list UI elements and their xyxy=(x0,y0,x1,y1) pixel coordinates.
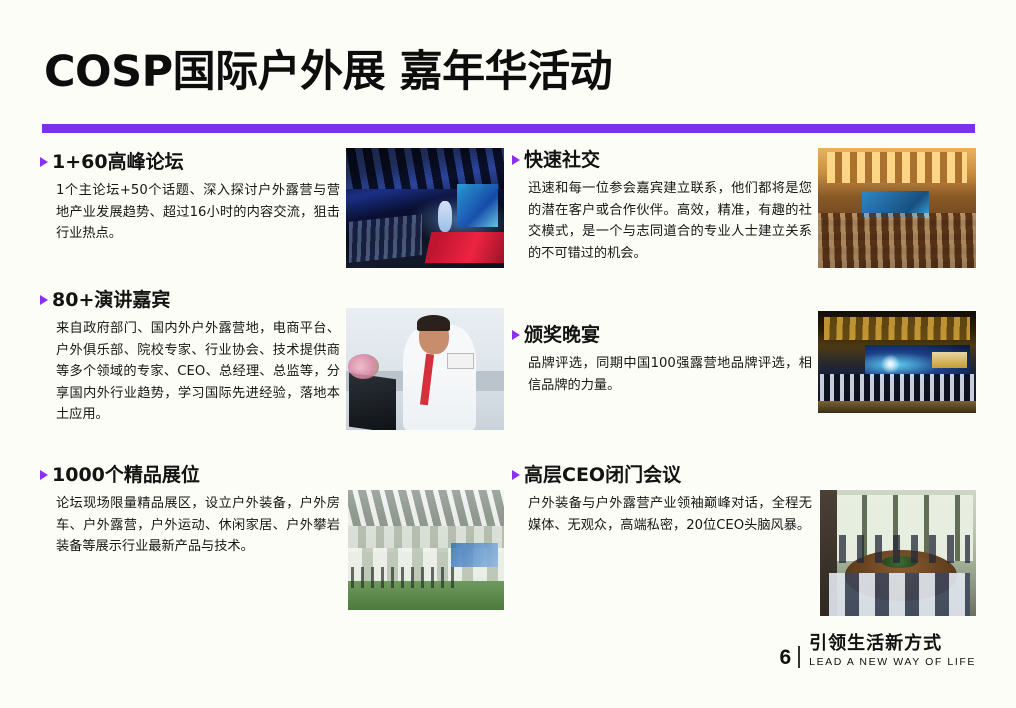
feature-heading-label: 快速社交 xyxy=(524,148,600,172)
feature-heading: 快速社交 xyxy=(512,148,812,172)
speaker-photo xyxy=(346,308,504,430)
triangle-bullet-icon xyxy=(40,157,48,167)
feature-body-text: 品牌评选，同期中国100强露营地品牌评选，相信品牌的力量。 xyxy=(512,353,812,396)
feature-heading-label: 80+演讲嘉宾 xyxy=(52,288,170,312)
footer-slogan-cn: 引领生活新方式 xyxy=(809,633,942,654)
feature-heading: 80+演讲嘉宾 xyxy=(40,288,340,312)
footer-slogan: 引领生活新方式 LEAD A NEW WAY OF LIFE xyxy=(809,633,976,668)
feature-heading: 1+60高峰论坛 xyxy=(40,150,340,174)
feature-body-text: 户外装备与户外露营产业领袖巅峰对话，全程无媒体、无观众，高端私密，20位CEO头… xyxy=(512,493,812,536)
feature-heading: 1000个精品展位 xyxy=(40,463,340,487)
feature-body-text: 迅速和每一位参会嘉宾建立联系，他们都将是您的潜在客户或合作伙伴。高效，精准，有趣… xyxy=(512,178,812,264)
footer-slogan-en: LEAD A NEW WAY OF LIFE xyxy=(809,656,976,668)
feature-block-forum: 1+60高峰论坛 1个主论坛+50个话题、深入探讨户外露营与营地产业发展趋势、超… xyxy=(40,150,340,245)
feature-heading: 颁奖晚宴 xyxy=(512,323,812,347)
conference-hall-photo xyxy=(346,148,504,268)
feature-heading-label: 1000个精品展位 xyxy=(52,463,200,487)
banquet-networking-photo xyxy=(818,148,976,268)
triangle-bullet-icon xyxy=(40,295,48,305)
feature-body-text: 来自政府部门、国内外户外露营地，电商平台、户外俱乐部、院校专家、行业协会、技术提… xyxy=(40,318,340,426)
feature-block-networking: 快速社交 迅速和每一位参会嘉宾建立联系，他们都将是您的潜在客户或合作伙伴。高效，… xyxy=(512,148,812,264)
feature-block-booths: 1000个精品展位 论坛现场限量精品展区，设立户外装备，户外房车、户外露营，户外… xyxy=(40,463,340,558)
feature-body-text: 1个主论坛+50个话题、深入探讨户外露营与营地产业发展趋势、超过16小时的内容交… xyxy=(40,180,340,245)
triangle-bullet-icon xyxy=(512,470,520,480)
feature-heading: 高层CEO闭门会议 xyxy=(512,463,812,487)
page-number: 6 xyxy=(779,647,791,668)
slide-root: COSP国际户外展 嘉年华活动 1+60高峰论坛 1个主论坛+50个话题、深入探… xyxy=(0,0,1016,708)
feature-block-awards: 颁奖晚宴 品牌评选，同期中国100强露营地品牌评选，相信品牌的力量。 xyxy=(512,323,812,396)
page-title: COSP国际户外展 嘉年华活动 xyxy=(44,47,612,97)
feature-heading-label: 1+60高峰论坛 xyxy=(52,150,184,174)
feature-heading-label: 颁奖晚宴 xyxy=(524,323,600,347)
feature-block-ceo-meeting: 高层CEO闭门会议 户外装备与户外露营产业领袖巅峰对话，全程无媒体、无观众，高端… xyxy=(512,463,812,536)
awards-ceremony-photo xyxy=(818,311,976,413)
exhibition-hall-photo xyxy=(348,490,504,610)
slide-footer: 6 引领生活新方式 LEAD A NEW WAY OF LIFE xyxy=(779,633,976,668)
footer-divider xyxy=(798,646,800,668)
feature-heading-label: 高层CEO闭门会议 xyxy=(524,463,681,487)
triangle-bullet-icon xyxy=(512,330,520,340)
feature-body-text: 论坛现场限量精品展区，设立户外装备，户外房车、户外露营，户外运动、休闲家居、户外… xyxy=(40,493,340,558)
feature-block-speakers: 80+演讲嘉宾 来自政府部门、国内外户外露营地，电商平台、户外俱乐部、院校专家、… xyxy=(40,288,340,426)
ceo-roundtable-photo xyxy=(820,490,976,616)
title-divider-rule xyxy=(42,124,975,133)
triangle-bullet-icon xyxy=(512,155,520,165)
triangle-bullet-icon xyxy=(40,470,48,480)
